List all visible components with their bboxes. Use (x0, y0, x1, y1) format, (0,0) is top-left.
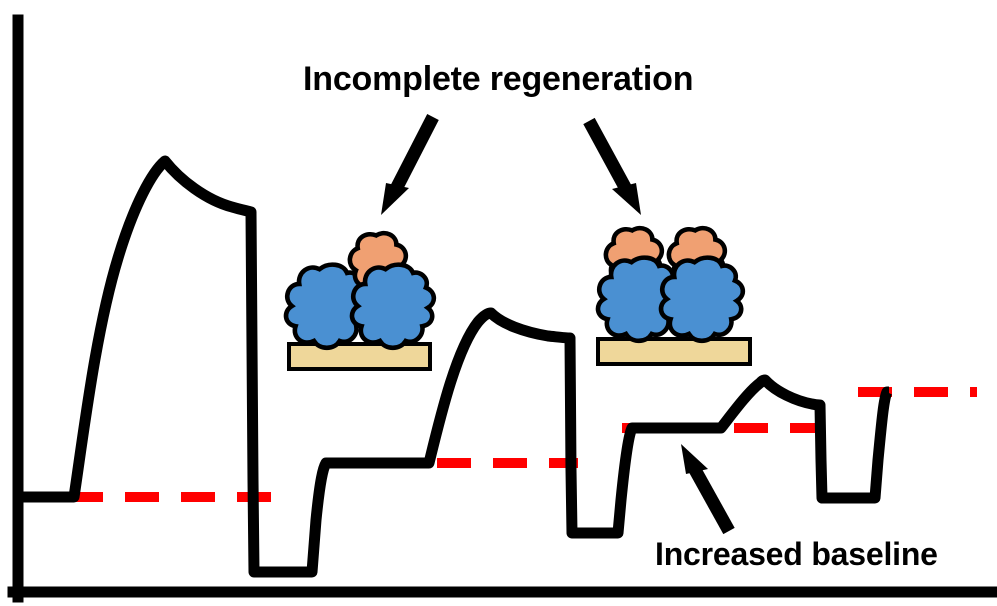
ligand-blob-icon (352, 265, 434, 348)
increased-baseline-label: Increased baseline (655, 536, 938, 573)
sensorgram-figure: Incomplete regeneration Increased baseli… (0, 0, 997, 606)
sensorgram-trace (13, 161, 889, 572)
ligand-blob-icon (661, 258, 743, 341)
arrow-to-right-surface-icon (589, 121, 641, 215)
right-surface-diagram (598, 228, 750, 364)
incomplete-regeneration-label: Incomplete regeneration (303, 60, 693, 99)
baseline-markers (13, 392, 977, 497)
sensor-surface (598, 339, 750, 364)
left-surface-diagram (286, 233, 434, 369)
sensor-surface (289, 344, 430, 369)
arrow-to-left-surface-icon (381, 117, 433, 215)
arrow-to-increased-baseline-icon (681, 444, 729, 531)
axes (13, 20, 997, 597)
